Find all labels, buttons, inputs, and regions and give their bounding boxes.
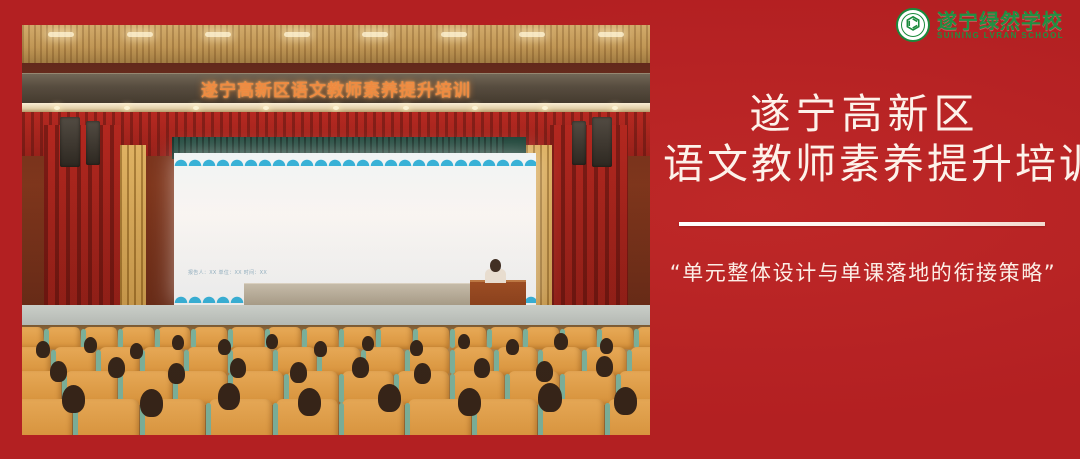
attendee-head bbox=[108, 357, 125, 378]
attendee-head bbox=[458, 388, 481, 416]
loudspeaker-right-inner bbox=[572, 121, 586, 165]
attendee-head bbox=[506, 339, 519, 355]
attendee-head bbox=[536, 361, 553, 382]
attendee-head bbox=[168, 363, 185, 384]
stage-table-row bbox=[244, 283, 474, 306]
audience-seating bbox=[22, 325, 650, 435]
seat bbox=[47, 327, 80, 349]
attendee-head bbox=[218, 339, 231, 355]
stage-banner-text: 遂宁高新区语文教师素养提升培训 bbox=[201, 76, 471, 101]
seat bbox=[563, 327, 596, 349]
seat bbox=[475, 399, 537, 435]
screen-wave-top bbox=[174, 155, 536, 166]
stage-banner: 遂宁高新区语文教师素养提升培训 bbox=[22, 73, 650, 103]
attendee-head bbox=[140, 389, 163, 417]
attendee-head bbox=[84, 337, 97, 353]
attendee-head bbox=[474, 358, 490, 378]
attendee-head bbox=[172, 335, 184, 350]
school-name-cn: 遂宁绿然学校 bbox=[937, 11, 1064, 31]
headline-line-1: 遂宁高新区 bbox=[660, 90, 1064, 138]
attendee-head bbox=[36, 341, 50, 358]
attendee-head bbox=[410, 340, 423, 356]
school-logo: ⌬ 遂宁绿然学校 SUINING LVRAN SCHOOL bbox=[896, 8, 1064, 42]
headline-line-2: 语文教师素养提升培训 bbox=[660, 138, 1064, 191]
stage-curtain-left bbox=[44, 125, 122, 325]
attendee-head bbox=[314, 341, 327, 357]
attendee-head bbox=[596, 356, 613, 377]
attendee-head bbox=[218, 383, 240, 410]
school-name-en: SUINING LVRAN SCHOOL bbox=[937, 32, 1064, 40]
attendee-head bbox=[362, 336, 374, 351]
screen-slide-text: 报告人：XX 单位：XX 时间：XX bbox=[188, 270, 267, 277]
stage-curtain-right bbox=[550, 125, 628, 325]
seat bbox=[637, 327, 650, 349]
seat bbox=[76, 399, 138, 435]
attendee-head bbox=[130, 343, 143, 359]
seat bbox=[231, 327, 264, 349]
attendee-head bbox=[62, 385, 85, 413]
speaker-person-head bbox=[490, 259, 501, 272]
loudspeaker-left-outer bbox=[60, 117, 80, 167]
attendee-head bbox=[290, 362, 307, 383]
subtitle-text: “单元整体设计与单课落地的衔接策略” bbox=[660, 257, 1064, 287]
attendee-head bbox=[266, 334, 278, 349]
loudspeaker-right-outer bbox=[592, 117, 612, 167]
attendee-head bbox=[538, 383, 562, 412]
attendee-head bbox=[230, 358, 246, 378]
school-emblem-icon: ⌬ bbox=[896, 8, 930, 42]
attendee-head bbox=[298, 388, 321, 416]
attendee-head bbox=[414, 363, 431, 384]
ledge-spotlights bbox=[22, 105, 650, 111]
attendee-head bbox=[378, 384, 401, 412]
seat bbox=[379, 327, 412, 349]
gold-drape-left bbox=[120, 145, 146, 313]
attendee-head bbox=[614, 387, 637, 415]
attendee-head bbox=[600, 338, 613, 354]
headline-divider bbox=[679, 222, 1045, 226]
poster-root: 遂宁高新区语文教师素养提升培训 报告人：XX 单位：XX 时间：XX bbox=[0, 0, 1080, 459]
attendee-head bbox=[352, 357, 369, 378]
school-logo-text: 遂宁绿然学校 SUINING LVRAN SCHOOL bbox=[937, 11, 1064, 40]
headline-panel: 遂宁高新区 语文教师素养提升培训 “单元整体设计与单课落地的衔接策略” bbox=[660, 90, 1064, 287]
ceiling-lights bbox=[22, 29, 650, 39]
attendee-head bbox=[50, 361, 67, 382]
attendee-head bbox=[458, 334, 470, 349]
venue-photo: 遂宁高新区语文教师素养提升培训 报告人：XX 单位：XX 时间：XX bbox=[22, 25, 650, 435]
attendee-head bbox=[554, 333, 568, 350]
loudspeaker-left-inner bbox=[86, 121, 100, 165]
venue-photo-content: 遂宁高新区语文教师素养提升培训 报告人：XX 单位：XX 时间：XX bbox=[22, 25, 650, 435]
